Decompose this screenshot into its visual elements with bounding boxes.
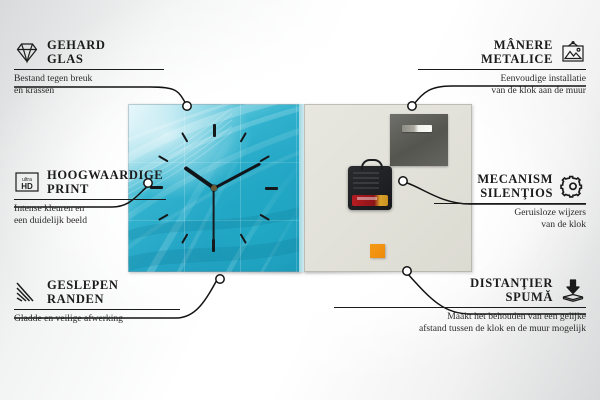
infographic-canvas: GEHARD GLAS Bestand tegen breuk en krass… <box>0 0 600 400</box>
callout-subtitle-line2: een duidelijk beeld <box>14 215 166 227</box>
callout-title-line1: DISTANŢIER <box>334 276 553 290</box>
callout-rule <box>434 203 586 204</box>
callout-title-line1: MÂNERE <box>418 38 553 52</box>
beveled-edges-icon <box>14 280 40 304</box>
callout-subtitle-line2: en krassen <box>14 85 164 97</box>
spacer-arrow-icon <box>560 278 586 302</box>
callout-subtitle-line1: Gladde en veilige afwerking <box>14 313 180 325</box>
callout-title-line2: RANDEN <box>47 292 119 306</box>
callout-title-line1: HOOGWAARDIGE <box>47 168 163 182</box>
callout-geslepen-randen: GESLEPEN RANDEN Gladde en veilige afwerk… <box>14 278 180 325</box>
callout-rule <box>14 309 180 310</box>
product-image <box>128 104 472 274</box>
movement-vents <box>353 172 379 174</box>
callout-mecanism-silentios: MECANISM SILENŢIOS Geruisloze wijzers va… <box>434 172 586 230</box>
clock-second-hand <box>213 188 215 246</box>
callout-rule <box>418 69 586 70</box>
callout-subtitle-line1: Maakt het behouden van een gelijke <box>334 311 586 323</box>
callout-title-line2: PRINT <box>47 182 163 196</box>
foam-spacer <box>370 244 385 258</box>
ultra-hd-icon: ultra HD <box>14 170 40 194</box>
svg-text:HD: HD <box>21 182 33 191</box>
callout-rule <box>14 69 164 70</box>
clock-movement-box <box>348 166 392 210</box>
callout-title-line1: GESLEPEN <box>47 278 119 292</box>
callout-subtitle-line1: Eenvoudige installatie <box>418 73 586 85</box>
callout-subtitle-line1: Bestand tegen breuk <box>14 73 164 85</box>
callout-title-line1: MECANISM <box>434 172 553 186</box>
callout-title-line1: GEHARD <box>47 38 105 52</box>
callout-rule <box>334 307 586 308</box>
callout-rule <box>14 199 166 200</box>
callout-manere-metalice: MÂNERE METALICE Eenvoudige installatie v… <box>418 38 586 96</box>
hanger-keyhole-slot <box>402 125 432 132</box>
callout-subtitle-line2: afstand tussen de klok en de muur mogeli… <box>334 323 586 335</box>
callout-title-line2: SILENŢIOS <box>434 186 553 200</box>
callout-title-line2: METALICE <box>418 52 553 66</box>
clock-side-edge <box>299 104 304 272</box>
callout-subtitle-line1: Geruisloze wijzers <box>434 207 586 219</box>
callout-title-line2: GLAS <box>47 52 105 66</box>
callout-hoogwaardige-print: ultra HD HOOGWAARDIGE PRINT Intense kleu… <box>14 168 166 226</box>
battery-label <box>357 197 377 200</box>
callout-subtitle-line2: van de klok <box>434 219 586 231</box>
callout-subtitle-line1: Intense kleuren en <box>14 203 166 215</box>
aa-battery <box>352 195 388 206</box>
clock-center-pin <box>211 185 217 191</box>
hanging-loop <box>361 159 383 170</box>
gear-icon <box>560 174 586 198</box>
metal-hanger-plate <box>390 114 448 166</box>
callout-subtitle-line2: van de klok aan de muur <box>418 85 586 97</box>
diamond-icon <box>14 40 40 64</box>
picture-frame-icon <box>560 40 586 64</box>
callout-distantier-spuma: DISTANŢIER SPUMĂ Maakt het behouden van … <box>334 276 586 334</box>
callout-title-line2: SPUMĂ <box>334 290 553 304</box>
callout-gehard-glas: GEHARD GLAS Bestand tegen breuk en krass… <box>14 38 164 96</box>
